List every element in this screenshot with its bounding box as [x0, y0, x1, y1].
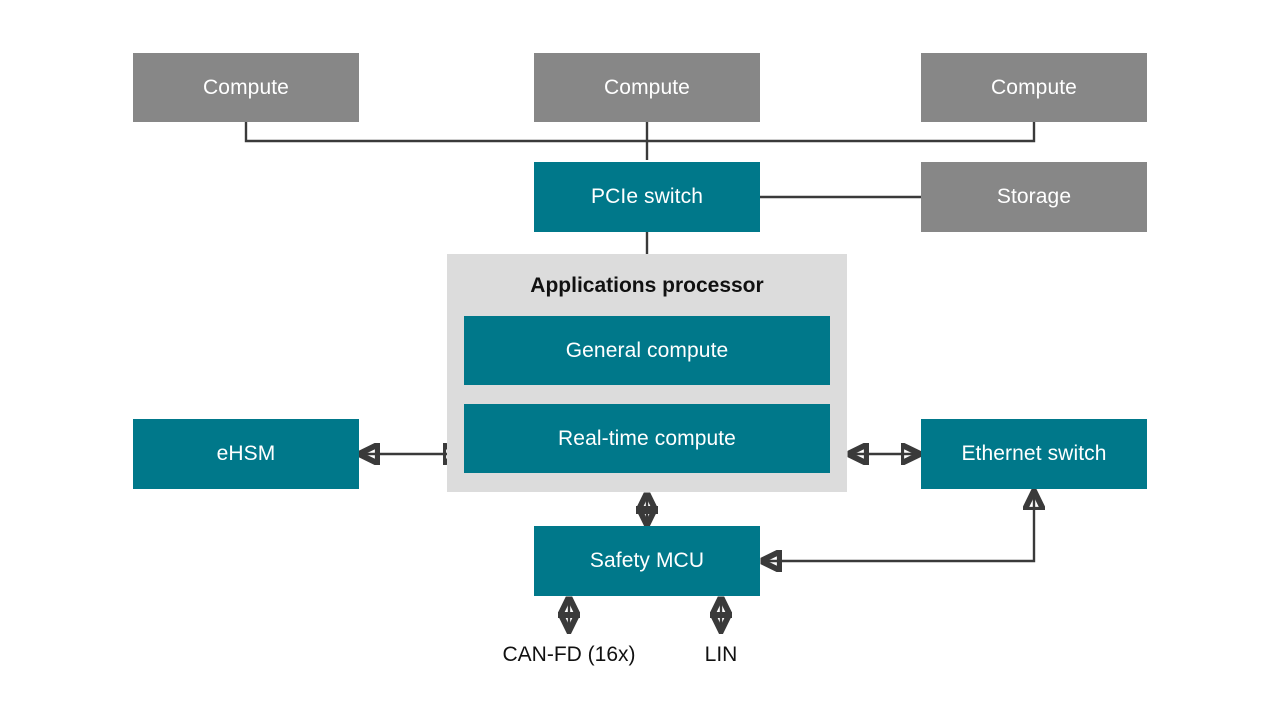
node-safety-mcu[interactable]: Safety MCU	[534, 526, 760, 596]
node-ethernet-switch[interactable]: Ethernet switch	[921, 419, 1147, 489]
node-compute-3-label: Compute	[991, 76, 1077, 99]
node-realtime-compute-label: Real-time compute	[558, 427, 736, 450]
node-pcie-switch-label: PCIe switch	[591, 185, 703, 208]
edge-label-can-fd: CAN-FD (16x)	[469, 643, 669, 667]
node-compute-2-label: Compute	[604, 76, 690, 99]
edge-label-lin: LIN	[671, 643, 771, 667]
node-storage-label: Storage	[997, 185, 1071, 208]
node-realtime-compute[interactable]: Real-time compute	[464, 404, 830, 473]
node-compute-1[interactable]: Compute	[133, 53, 359, 122]
node-compute-3[interactable]: Compute	[921, 53, 1147, 122]
node-compute-1-label: Compute	[203, 76, 289, 99]
node-pcie-switch[interactable]: PCIe switch	[534, 162, 760, 232]
node-ehsm[interactable]: eHSM	[133, 419, 359, 489]
node-compute-2[interactable]: Compute	[534, 53, 760, 122]
node-general-compute[interactable]: General compute	[464, 316, 830, 385]
diagram-canvas: Compute Compute Compute PCIe switch Stor…	[0, 0, 1280, 720]
node-general-compute-label: General compute	[566, 339, 729, 362]
node-ethernet-switch-label: Ethernet switch	[961, 442, 1106, 465]
group-applications-processor-title: Applications processor	[447, 274, 847, 298]
node-ehsm-label: eHSM	[217, 442, 276, 465]
node-storage[interactable]: Storage	[921, 162, 1147, 232]
node-safety-mcu-label: Safety MCU	[590, 549, 704, 572]
